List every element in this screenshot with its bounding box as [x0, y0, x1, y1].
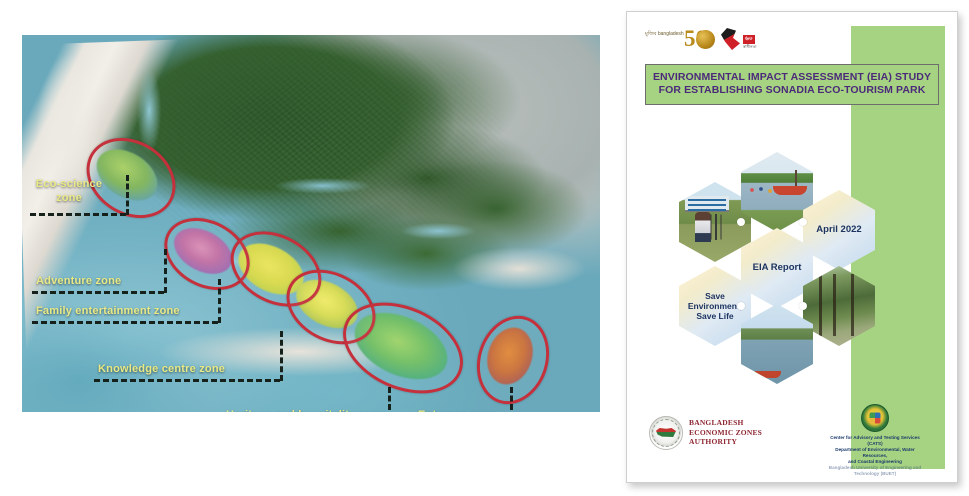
independence-badge: ৬০ — [743, 35, 755, 44]
surveyor-figure-icon — [695, 212, 711, 242]
bangladesh-independence-icon: ৬০ স্বাধীনতা — [721, 28, 777, 52]
consultant-line-1: Center for Advisory and Testing Services… — [823, 435, 927, 447]
beza-logo-icon — [649, 416, 681, 448]
beza-logo-disc — [649, 416, 683, 450]
leader-line-eco-science-h — [30, 213, 126, 216]
zone-label-eco-science: Eco-science zone — [34, 177, 104, 205]
mujib-silhouette-icon — [721, 28, 741, 50]
zone-label-family-entertainment: Family entertainment zone — [36, 305, 180, 317]
zone-label-knowledge-centre: Knowledge centre zone — [98, 363, 225, 375]
river-boat-icon — [755, 371, 781, 378]
leader-line-knowledge-v — [280, 331, 283, 381]
leader-line-knowledge-h — [94, 379, 280, 382]
hex-connector-dot — [799, 302, 807, 310]
consultant-line-2: Department of Environmental, Water Resou… — [823, 447, 927, 459]
cover-top-logo-row: মুজিব bangladesh 50 ৬০ স্বাধীনতা — [645, 27, 775, 53]
leader-line-family-h — [32, 321, 218, 324]
eia-report-cover-page: মুজিব bangladesh 50 ৬০ স্বাধীনতা ENVIRON… — [626, 11, 958, 483]
buet-seal-icon — [861, 404, 889, 432]
zone-label-heritage-hospitality: Heritage and hospitality zone — [226, 409, 385, 412]
boat-hull-icon — [773, 186, 807, 195]
mujib-borsho-50-icon: মুজিব bangladesh 50 — [645, 27, 715, 53]
hex-connector-dot — [737, 218, 745, 226]
survey-tripod-icon — [715, 214, 717, 240]
zone-label-adventure: Adventure zone — [36, 275, 121, 287]
cover-title-band: ENVIRONMENTAL IMPACT ASSESSMENT (EIA) ST… — [645, 64, 939, 105]
consultant-block: Center for Advisory and Testing Services… — [823, 404, 927, 477]
page-title: ENVIRONMENTAL IMPACT ASSESSMENT (EIA) ST… — [650, 71, 934, 97]
forest-trunk-icon — [833, 274, 836, 336]
hex-connector-dot — [799, 218, 807, 226]
leader-line-family-v — [218, 279, 221, 323]
cover-hexagon-cluster: April 2022 EIA Report Save Environment, … — [679, 152, 921, 377]
forest-trunk-icon — [851, 274, 854, 336]
zone-label-entrance: Entrance zone — [418, 409, 496, 412]
mujib-50-globe-icon — [696, 30, 715, 49]
hexagon-photo-river — [741, 304, 813, 384]
leader-line-heritage-v — [388, 387, 391, 412]
hexagon-photo-forest — [803, 266, 875, 346]
leader-line-adventure-v — [164, 249, 167, 293]
survey-signboard-icon — [685, 196, 729, 212]
leader-line-eco-science-v — [126, 175, 129, 215]
independence-subtext: স্বাধীনতা — [743, 44, 757, 49]
report-date-label: April 2022 — [812, 225, 865, 235]
leader-line-adventure-h — [32, 291, 164, 294]
hexagon-report-date: April 2022 — [803, 190, 875, 270]
beza-name-line-3: AUTHORITY — [689, 437, 809, 447]
forest-trunk-icon — [819, 274, 822, 336]
leader-line-entrance-v — [510, 387, 513, 412]
mujib-50-subtext: মুজিব bangladesh — [645, 31, 684, 37]
beza-client-name: BANGLADESH ECONOMIC ZONES AUTHORITY — [689, 418, 809, 447]
eia-report-label: EIA Report — [749, 263, 806, 273]
consultant-line-4: Bangladesh University of Engineering and… — [823, 465, 927, 477]
hexagon-eia-report: EIA Report — [741, 228, 813, 308]
hex-connector-dot — [737, 302, 745, 310]
beza-name-line-1: BANGLADESH — [689, 418, 809, 428]
beza-name-line-2: ECONOMIC ZONES — [689, 428, 809, 438]
sonadia-zoning-map-image: Eco-science zone Adventure zone Family e… — [22, 35, 600, 412]
